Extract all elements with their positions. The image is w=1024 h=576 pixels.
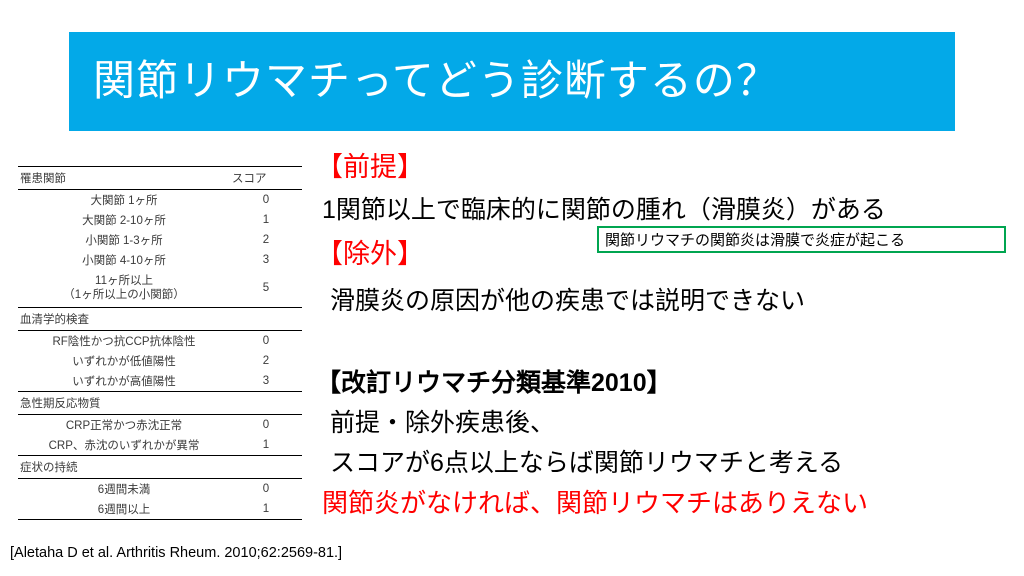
- row-score: 0: [230, 190, 302, 211]
- row-label: 小関節 1-3ヶ所: [18, 230, 230, 250]
- row-label: 11ヶ所以上: [18, 274, 230, 288]
- exclusion-text: 滑膜炎の原因が他の疾患では説明できない: [330, 281, 805, 317]
- row-score: 2: [230, 351, 302, 371]
- row-score: 1: [230, 499, 302, 520]
- table-row: いずれかが高値陽性 3: [18, 371, 302, 392]
- criteria-text-line1: 前提・除外疾患後、: [330, 403, 555, 439]
- title-banner: 関節リウマチってどう診断するの？: [69, 32, 955, 131]
- criteria-warning-text: 関節炎がなければ、関節リウマチはありえない: [322, 483, 868, 520]
- table: 罹患関節 スコア 大関節 1ヶ所 0 大関節 2-10ヶ所 1 小関節 1-3ヶ…: [18, 166, 302, 520]
- row-score: 5: [230, 270, 302, 307]
- section-header-label: 血清学的検査: [18, 307, 230, 330]
- table-row: 小関節 1-3ヶ所 2: [18, 230, 302, 250]
- row-score: 0: [230, 414, 302, 435]
- callout-text: 関節リウマチの関節炎は滑膜で炎症が起こる: [599, 229, 905, 250]
- criteria-text-line2: スコアが6点以上ならば関節リウマチと考える: [330, 443, 843, 479]
- row-score: 3: [230, 250, 302, 270]
- row-score: 1: [230, 435, 302, 456]
- row-label: CRP正常かつ赤沈正常: [18, 414, 230, 435]
- row-label: いずれかが低値陽性: [18, 351, 230, 371]
- table-header-row: 罹患関節 スコア: [18, 167, 302, 190]
- score-criteria-table: 罹患関節 スコア 大関節 1ヶ所 0 大関節 2-10ヶ所 1 小関節 1-3ヶ…: [18, 166, 298, 520]
- exclusion-heading: 【除外】: [316, 232, 424, 271]
- table-row: 大関節 1ヶ所 0: [18, 190, 302, 211]
- column-header-score: スコア: [230, 167, 302, 190]
- section-header-row: 症状の持続: [18, 455, 302, 478]
- section-header-label: 症状の持続: [18, 455, 230, 478]
- table-row: CRP、赤沈のいずれかが異常 1: [18, 435, 302, 456]
- row-label: RF陰性かつ抗CCP抗体陰性: [18, 330, 230, 351]
- table-row: 大関節 2-10ヶ所 1: [18, 210, 302, 230]
- criteria-heading: 【改訂リウマチ分類基準2010】: [316, 363, 672, 399]
- row-score: 3: [230, 371, 302, 392]
- row-label: 大関節 1ヶ所: [18, 190, 230, 211]
- column-header-joints: 罹患関節: [18, 167, 230, 190]
- row-score: 0: [230, 478, 302, 499]
- row-label: CRP、赤沈のいずれかが異常: [18, 435, 230, 456]
- section-header-label: 急性期反応物質: [18, 391, 230, 414]
- page-title: 関節リウマチってどう診断するの？: [69, 58, 779, 104]
- premise-text: 1関節以上で臨床的に関節の腫れ（滑膜炎）がある: [322, 190, 886, 226]
- table-row: 6週間以上 1: [18, 499, 302, 520]
- table-row: 11ヶ所以上 （1ヶ所以上の小関節） 5: [18, 270, 302, 307]
- row-label: いずれかが高値陽性: [18, 371, 230, 392]
- row-label: 6週間以上: [18, 499, 230, 520]
- section-header-row: 急性期反応物質: [18, 391, 302, 414]
- row-label-secondary: （1ヶ所以上の小関節）: [18, 288, 230, 302]
- citation-text: [Aletaha D et al. Arthritis Rheum. 2010;…: [10, 545, 342, 561]
- table-row: 小関節 4-10ヶ所 3: [18, 250, 302, 270]
- row-score: 2: [230, 230, 302, 250]
- table-row: 6週間未満 0: [18, 478, 302, 499]
- row-score: 1: [230, 210, 302, 230]
- section-header-row: 血清学的検査: [18, 307, 302, 330]
- table-row: いずれかが低値陽性 2: [18, 351, 302, 371]
- row-label: 6週間未満: [18, 478, 230, 499]
- table-row: RF陰性かつ抗CCP抗体陰性 0: [18, 330, 302, 351]
- table-row: CRP正常かつ赤沈正常 0: [18, 414, 302, 435]
- row-score: 0: [230, 330, 302, 351]
- row-label: 大関節 2-10ヶ所: [18, 210, 230, 230]
- callout-box: 関節リウマチの関節炎は滑膜で炎症が起こる: [597, 226, 1006, 253]
- premise-heading: 【前提】: [316, 145, 424, 184]
- row-label: 小関節 4-10ヶ所: [18, 250, 230, 270]
